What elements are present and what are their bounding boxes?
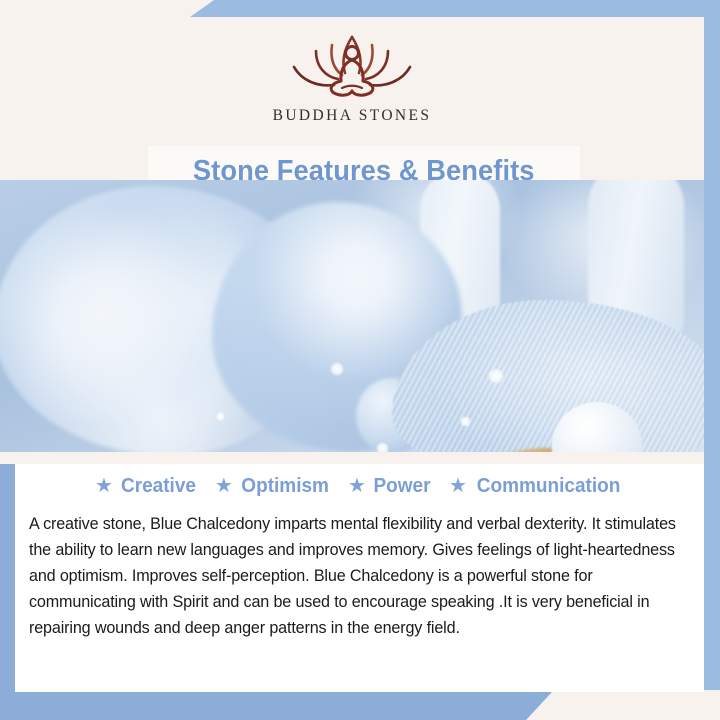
decorative-left-bar	[0, 455, 15, 720]
keyword-label: Power	[373, 475, 430, 498]
decorative-bottom-bar	[0, 692, 552, 720]
keyword-list: ★ Creative ★ Optimism ★ Power ★ Communic…	[15, 468, 704, 504]
star-icon: ★	[348, 476, 366, 496]
stone-description: A creative stone, Blue Chalcedony impart…	[29, 512, 684, 642]
keyword-label: Creative	[121, 475, 196, 498]
brand-logo: BUDDHA STONES	[0, 25, 704, 125]
star-icon: ★	[215, 476, 233, 496]
keyword-item-communication: ★ Communication	[449, 475, 624, 498]
keyword-item-power: ★ Power	[348, 475, 432, 498]
stone-photo: Blue Chalcedony	[0, 180, 704, 452]
decorative-top-bar	[190, 0, 720, 17]
lotus-meditation-icon	[272, 25, 432, 105]
keyword-label: Optimism	[241, 475, 329, 498]
header: BUDDHA STONES Stone Features & Benefits	[0, 17, 704, 180]
keyword-label: Communication	[477, 475, 621, 498]
star-icon: ★	[449, 476, 467, 496]
keyword-item-creative: ★ Creative	[95, 475, 198, 498]
stone-details-panel: ★ Creative ★ Optimism ★ Power ★ Communic…	[15, 464, 704, 692]
stone-info-card: BUDDHA STONES Stone Features & Benefits	[0, 0, 720, 720]
keyword-item-optimism: ★ Optimism	[215, 475, 331, 498]
cream-divider	[0, 452, 704, 464]
stone-photo-graphic	[0, 180, 704, 452]
brand-name: BUDDHA STONES	[0, 107, 704, 125]
decorative-right-bar	[704, 0, 720, 690]
star-icon: ★	[95, 476, 113, 496]
